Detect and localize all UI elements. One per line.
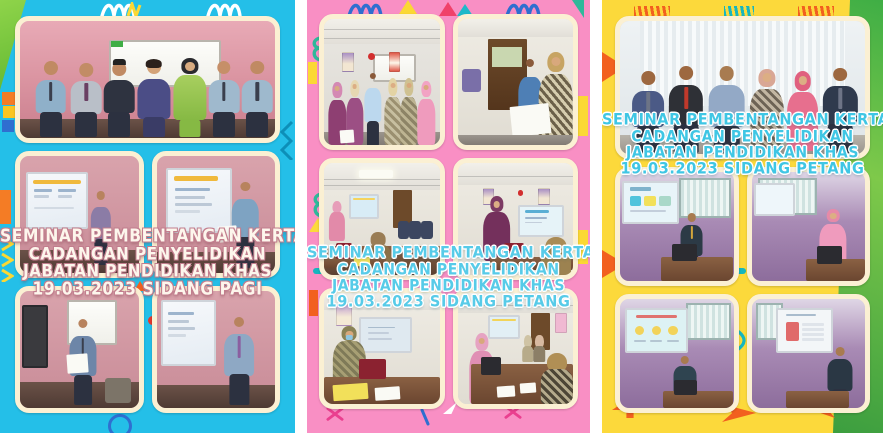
photo-presenter-4 (157, 291, 276, 408)
orange-arrow-left-decor (602, 52, 616, 82)
poster-panel-morning: SEMINAR PEMBENTANGAN KERTAS CADANGAN PEN… (0, 0, 295, 433)
photo-document-review (458, 19, 574, 145)
orange-bar-decor (0, 190, 11, 224)
orange-square-decor (2, 92, 16, 105)
photo-presenter-3 (20, 291, 139, 408)
photo-presenter-2 (157, 156, 276, 273)
photo-cell[interactable] (615, 294, 739, 413)
orange-bar-decor (309, 290, 318, 316)
blue-square-decor (2, 120, 14, 132)
photo-presenter-table-slide (752, 299, 866, 408)
pink-x-icon (325, 406, 345, 426)
photo-group-afternoon (324, 19, 440, 145)
photo-cell[interactable] (453, 288, 579, 409)
photo-cell[interactable] (15, 286, 144, 413)
cyan-arrow-right-icon (280, 120, 294, 160)
photo-cell[interactable] (747, 167, 871, 286)
photo-cell[interactable] (15, 16, 280, 143)
photo-group-morning (20, 21, 275, 138)
photo-presenter-laptop (324, 293, 440, 404)
yellow-bar-decor (308, 62, 317, 84)
photo-cell[interactable] (319, 14, 445, 150)
panel-3-photo-grid (615, 16, 870, 413)
photo-cell[interactable] (615, 16, 870, 159)
photo-presenter-1 (20, 156, 139, 273)
poster-panel-afternoon-a: SEMINAR PEMBENTANGAN KERTAS CADANGAN PEN… (307, 0, 590, 433)
photo-female-presenter (458, 163, 574, 274)
photo-presenter-icons-slide (620, 299, 734, 408)
photo-cell[interactable] (15, 151, 144, 278)
photo-cell[interactable] (152, 151, 281, 278)
yellow-triangle-top-decor (399, 0, 417, 14)
panel-2-photo-grid (319, 14, 578, 409)
photo-cell[interactable] (319, 158, 445, 279)
photo-cell[interactable] (453, 158, 579, 279)
photo-cell[interactable] (453, 14, 579, 150)
photo-cell[interactable] (747, 294, 871, 413)
yellow-bar-right-decor (578, 96, 588, 136)
panel-1-photo-grid (15, 16, 280, 413)
photo-cell[interactable] (615, 167, 739, 286)
yellow-zigzag-left-icon (1, 236, 14, 282)
photo-cell[interactable] (152, 286, 281, 413)
poster-collage: SEMINAR PEMBENTANGAN KERTAS CADANGAN PEN… (0, 0, 883, 433)
photo-female-presenter-pink (752, 172, 866, 281)
blue-tick-icon (419, 408, 435, 430)
poster-panel-afternoon-b: SEMINAR PEMBENTANGAN KERTAS CADANGAN PEN… (602, 0, 883, 433)
photo-male-presenter-slide (620, 172, 734, 281)
orange-arrow-left-2-decor (602, 250, 616, 278)
photo-group-curtain (620, 21, 865, 154)
photo-meeting-table (458, 293, 574, 404)
photo-cell[interactable] (319, 288, 445, 409)
photo-seminar-room (324, 163, 440, 274)
yellow-bar-right-2-decor (578, 230, 588, 264)
blue-circle-outline-decor (108, 414, 132, 433)
